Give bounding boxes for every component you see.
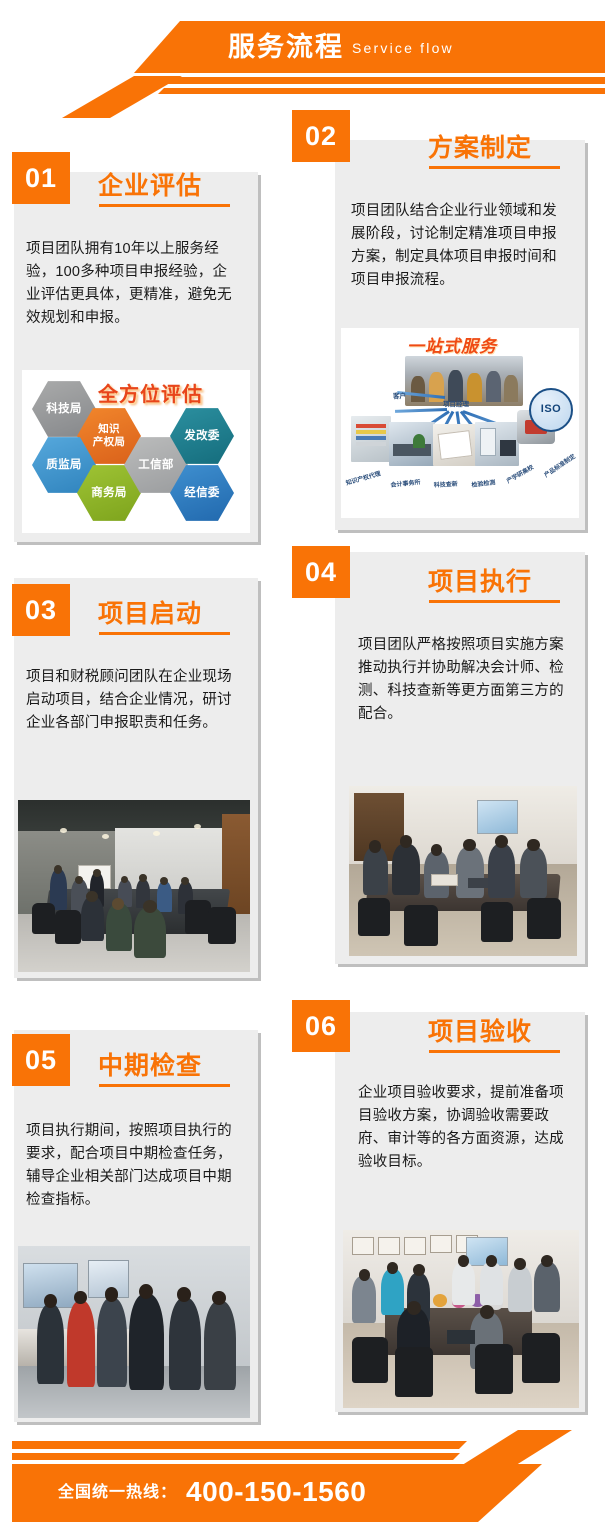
flow-arrow (395, 408, 447, 413)
page-subtitle: Service flow (352, 38, 454, 58)
card-02-title: 方案制定 (428, 128, 532, 164)
card-02-title-rule (429, 166, 560, 169)
oss-branch-label: 知识产权代理 (345, 468, 382, 487)
card-03-body: 项目和财税顾问团队在企业现场启动项目，结合企业情况，研讨企业各部门申报职责和任务… (26, 666, 238, 735)
card-06-body: 企业项目验收要求，提前准备项目验收方案，协调验收需要政府、审计等的各方面资源，达… (358, 1082, 572, 1174)
card-04-body: 项目团队严格按照项目实施方案推动执行并协助解决会计师、检测、科技查新等更方面第三… (358, 634, 572, 726)
hex-node-label: 发改委 (184, 430, 219, 443)
lobby-visit-photo (18, 1246, 250, 1418)
header-stripe-upper (150, 77, 605, 84)
project-meeting-photo (349, 786, 577, 956)
card-05-title-rule (99, 1084, 230, 1087)
hexagon-chart-title: 全方位评估 (98, 378, 203, 407)
card-06-number-badge: 06 (292, 1000, 350, 1052)
one-stop-service-title: 一站式服务 (407, 332, 497, 357)
infographic-page: 服务流程 Service flow 01 企业评估 项目团队拥有10年以上服务经… (0, 0, 605, 1538)
hotline-phone-number[interactable]: 400-150-1560 (186, 1475, 366, 1509)
hotline-label: 全国统一热线： (58, 1482, 177, 1504)
hex-node-label: 科技局 (46, 403, 81, 416)
card-03-title: 项目启动 (98, 594, 202, 630)
page-footer: 全国统一热线： 400-150-1560 (0, 1418, 605, 1538)
card-05-body: 项目执行期间，按照项目执行的要求，配合项目中期检查任务，辅导企业相关部门达成项目… (26, 1120, 238, 1212)
page-title: 服务流程 (228, 27, 344, 67)
card-04-title-rule (429, 600, 560, 603)
card-03-title-rule (99, 632, 230, 635)
card-01-title: 企业评估 (98, 166, 202, 202)
page-header: 服务流程 Service flow (0, 0, 605, 118)
footer-stripe-upper (12, 1441, 467, 1449)
photo-scene (18, 800, 250, 972)
card-02-number-badge: 02 (292, 110, 350, 162)
footer-stripe-lower (12, 1453, 460, 1460)
oss-node-accounting-firm (389, 422, 435, 466)
hex-node-label: 商务局 (91, 487, 126, 500)
oss-branch-label: 科技查新 (434, 479, 458, 489)
photo-scene (349, 786, 577, 956)
header-stripe-lower (158, 88, 605, 94)
card-01-number-badge: 01 (12, 152, 70, 204)
oss-branch-label: 检验检测 (471, 477, 496, 489)
acceptance-meeting-photo (343, 1230, 579, 1408)
card-04-number-badge: 04 (292, 546, 350, 598)
hex-node-label: 质监局 (46, 459, 81, 472)
card-06-title: 项目验收 (428, 1012, 532, 1048)
card-04-title: 项目执行 (428, 562, 532, 598)
oss-branch-label: 会计事务所 (390, 477, 421, 489)
oss-branch-label: 产品标准制定 (542, 451, 577, 479)
card-02-body: 项目团队结合企业行业领域和发展阶段，讨论制定精准项目申报方案，制定具体项目申报时… (351, 200, 569, 292)
photo-scene (18, 1246, 250, 1418)
hex-node-label: 经信委 (184, 487, 219, 500)
photo-scene (343, 1230, 579, 1408)
oss-node-ip-agency (351, 416, 391, 462)
hex-node-label: 工信部 (138, 459, 173, 472)
card-05-number-badge: 05 (12, 1034, 70, 1086)
conference-room-meeting-photo (18, 800, 250, 972)
oss-node-inspection-testing (475, 422, 519, 466)
card-05-title: 中期检查 (98, 1046, 202, 1082)
oss-node-sci-tech-search (433, 424, 477, 466)
hexagon-assessment-chart: 科技局 知识 产权局 质监局 商务局 工信部 发改委 经信委 全方位评估 (22, 370, 250, 533)
oss-label-project-manager: 项目经理 (443, 398, 469, 408)
card-01-body: 项目团队拥有10年以上服务经验，100多种项目申报经验，企业评估更具体，更精准，… (26, 238, 238, 330)
card-01-title-rule (99, 204, 230, 207)
one-stop-service-diagram: 一站式服务 客户 项目经理 (341, 328, 579, 518)
card-06-title-rule (429, 1050, 560, 1053)
oss-label-client: 客户 (393, 390, 406, 400)
card-03-number-badge: 03 (12, 584, 70, 636)
iso-certification-badge (529, 388, 573, 432)
hex-node-label: 知识 产权局 (93, 423, 125, 449)
